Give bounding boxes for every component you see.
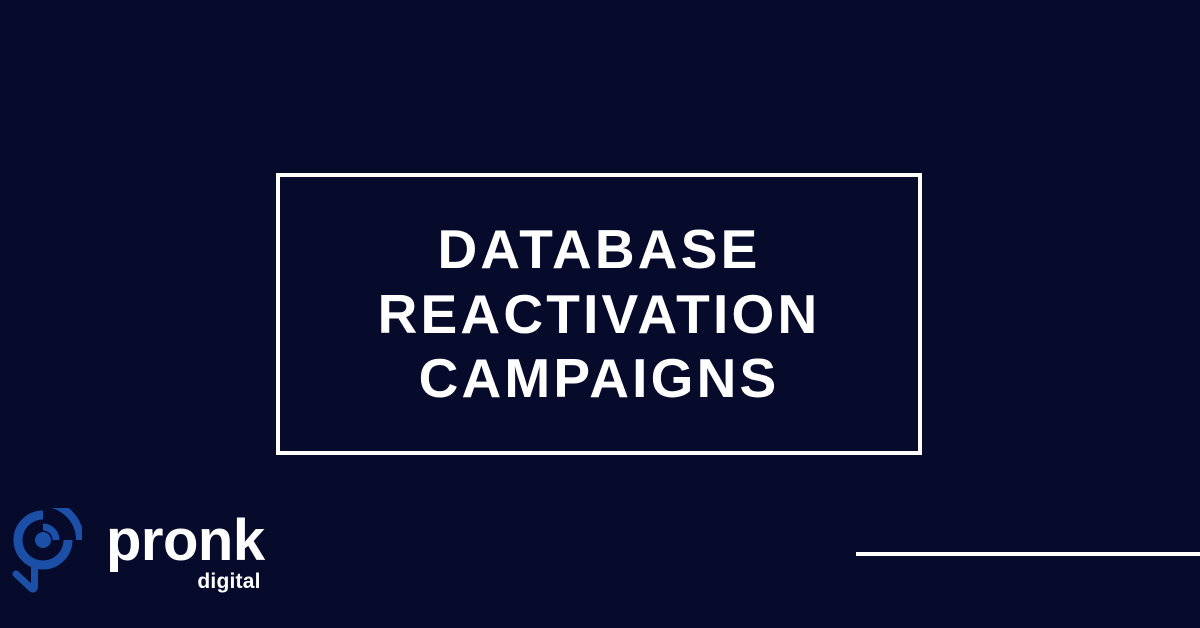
brand-wordmark: pronk digital [106,508,265,592]
banner-canvas: DATABASE REACTIVATION CAMPAIGNS pronk di… [0,0,1200,628]
headline-line-2: REACTIVATION [378,282,821,346]
headline-line-3: CAMPAIGNS [378,346,821,410]
brand-name: pronk [106,514,265,567]
brand-logo-lockup: pronk digital [12,508,265,594]
page-title: DATABASE REACTIVATION CAMPAIGNS [370,217,829,410]
brand-subtitle: digital [197,571,260,592]
headline-frame: DATABASE REACTIVATION CAMPAIGNS [276,173,922,455]
accent-rule [856,552,1200,556]
headline-line-1: DATABASE [378,217,821,281]
pronk-speech-bubble-signal-icon [12,508,82,594]
